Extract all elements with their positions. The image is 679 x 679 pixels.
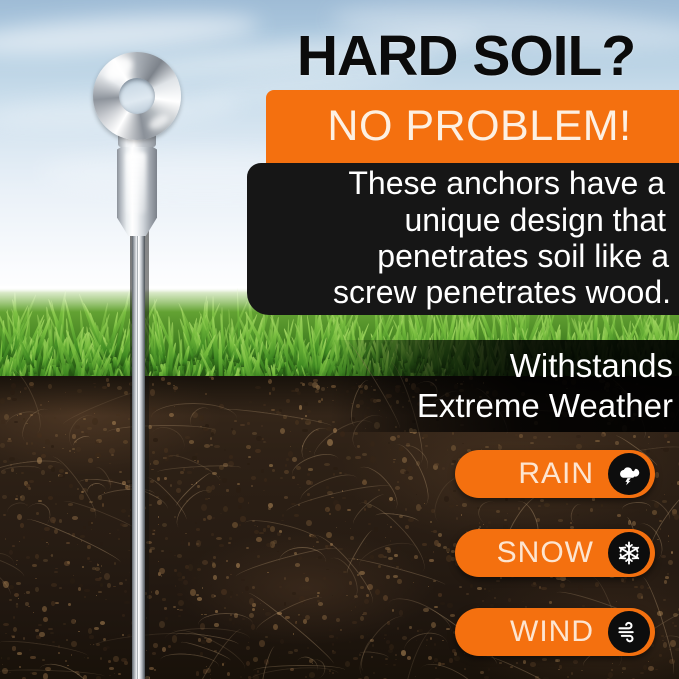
- soil-speck: [397, 435, 400, 438]
- soil-speck: [88, 458, 93, 462]
- soil-speck: [221, 589, 227, 595]
- soil-speck: [548, 436, 551, 438]
- soil-speck: [459, 586, 463, 588]
- soil-speck: [89, 635, 94, 638]
- soil-speck: [329, 635, 334, 638]
- soil-speck: [190, 589, 196, 596]
- soil-speck: [393, 664, 396, 666]
- soil-speck: [118, 538, 121, 541]
- soil-speck: [43, 617, 48, 623]
- soil-speck: [42, 606, 47, 612]
- soil-speck: [322, 615, 327, 620]
- description-line: These anchors have a: [348, 165, 671, 201]
- soil-speck: [101, 565, 102, 566]
- soil-speck: [290, 446, 291, 447]
- soil-speck: [592, 498, 596, 500]
- soil-speck: [256, 436, 262, 442]
- soil-speck: [286, 458, 289, 461]
- soil-speck: [65, 392, 66, 393]
- soil-speck: [43, 559, 48, 562]
- soil-speck: [14, 593, 19, 597]
- soil-speck: [246, 445, 251, 449]
- soil-speck: [144, 592, 147, 595]
- soil-speck: [295, 621, 297, 624]
- soil-speck: [62, 448, 64, 449]
- soil-speck: [32, 564, 37, 567]
- soil-speck: [138, 591, 141, 593]
- soil-speck: [80, 535, 85, 539]
- soil-speck: [51, 554, 54, 557]
- soil-speck: [386, 575, 390, 579]
- soil-speck: [196, 543, 199, 545]
- soil-speck: [299, 487, 301, 488]
- badge-snow-label: SNOW: [497, 536, 594, 570]
- soil-speck: [360, 616, 364, 621]
- soil-speck: [226, 489, 229, 491]
- soil-speck: [522, 601, 524, 602]
- soil-speck: [479, 526, 481, 528]
- soil-speck: [578, 585, 584, 591]
- soil-speck: [615, 441, 619, 445]
- soil-speck: [77, 389, 82, 394]
- soil-speck: [151, 591, 153, 593]
- soil-speck: [146, 541, 152, 544]
- soil-speck: [89, 561, 91, 562]
- soil-speck: [284, 602, 287, 606]
- soil-root: [485, 653, 552, 679]
- soil-speck: [252, 608, 256, 611]
- soil-speck: [640, 672, 644, 674]
- description-line: penetrates soil like a: [377, 238, 671, 274]
- soil-speck: [54, 417, 57, 419]
- soil-speck: [167, 382, 171, 385]
- soil-speck: [350, 536, 354, 540]
- soil-speck: [280, 477, 282, 479]
- soil-speck: [345, 661, 350, 667]
- soil-speck: [202, 560, 208, 565]
- soil-speck: [100, 657, 102, 660]
- withstands-line: Withstands: [510, 346, 673, 386]
- soil-root: [621, 501, 651, 516]
- soil-speck: [48, 628, 53, 631]
- soil-speck: [174, 555, 176, 556]
- soil-speck: [1, 657, 2, 658]
- soil-speck: [170, 484, 172, 487]
- soil-speck: [573, 660, 578, 665]
- soil-speck: [46, 546, 49, 548]
- soil-speck: [294, 546, 295, 547]
- soil-speck: [483, 524, 485, 525]
- soil-speck: [153, 460, 159, 466]
- soil-speck: [421, 507, 423, 509]
- soil-speck: [451, 445, 457, 451]
- soil-speck: [671, 551, 673, 554]
- soil-speck: [321, 387, 325, 391]
- soil-speck: [129, 572, 130, 573]
- soil-speck: [210, 444, 212, 446]
- soil-speck: [202, 587, 203, 589]
- soil-speck: [84, 596, 86, 598]
- soil-speck: [134, 627, 138, 630]
- soil-speck: [461, 514, 463, 516]
- soil-speck: [477, 606, 479, 607]
- soil-speck: [247, 422, 250, 426]
- soil-speck: [581, 670, 583, 672]
- soil-speck: [48, 543, 49, 544]
- soil-speck: [114, 673, 115, 674]
- soil-speck: [149, 549, 153, 553]
- soil-speck: [519, 434, 523, 438]
- soil-speck: [63, 623, 66, 626]
- soil-speck: [23, 637, 25, 639]
- soil-speck: [450, 614, 455, 617]
- soil-speck: [94, 627, 99, 630]
- soil-speck: [576, 444, 582, 449]
- soil-speck: [355, 456, 361, 460]
- soil-speck: [247, 463, 250, 466]
- soil-speck: [220, 513, 222, 515]
- soil-speck: [229, 455, 233, 459]
- snowflake-icon: [608, 532, 650, 574]
- soil-speck: [158, 516, 160, 518]
- soil-speck: [91, 529, 92, 530]
- soil-speck: [50, 632, 54, 634]
- soil-speck: [162, 598, 167, 601]
- soil-speck: [38, 624, 42, 626]
- description-panel: These anchors have a unique design that …: [247, 163, 679, 315]
- soil-speck: [261, 425, 264, 428]
- soil-speck: [508, 598, 512, 603]
- soil-speck: [413, 582, 414, 583]
- soil-speck: [52, 641, 55, 643]
- soil-speck: [541, 587, 546, 590]
- soil-speck: [124, 661, 128, 666]
- soil-speck: [71, 641, 76, 647]
- soil-speck: [241, 579, 245, 582]
- soil-speck: [133, 544, 136, 546]
- soil-speck: [447, 552, 449, 553]
- soil-speck: [292, 592, 296, 595]
- soil-speck: [530, 662, 536, 668]
- soil-speck: [55, 503, 57, 505]
- soil-speck: [664, 580, 667, 584]
- soil-speck: [668, 560, 673, 565]
- soil-speck: [316, 385, 320, 390]
- soil-speck: [69, 450, 71, 452]
- soil-speck: [109, 533, 112, 534]
- soil-speck: [434, 463, 440, 466]
- soil-speck: [65, 660, 67, 662]
- soil-speck: [88, 628, 93, 634]
- soil-speck: [259, 640, 265, 646]
- soil-speck: [239, 524, 241, 526]
- soil-speck: [462, 443, 464, 444]
- soil-speck: [451, 463, 454, 465]
- soil-speck: [248, 456, 251, 458]
- soil-speck: [177, 480, 183, 485]
- soil-speck: [159, 568, 165, 575]
- soil-speck: [100, 621, 106, 625]
- soil-speck: [136, 648, 142, 652]
- soil-speck: [152, 533, 155, 536]
- soil-speck: [288, 652, 290, 653]
- soil-speck: [608, 672, 613, 678]
- soil-speck: [35, 629, 39, 632]
- soil-speck: [340, 629, 342, 631]
- badge-rain[interactable]: RAIN: [455, 450, 655, 498]
- soil-speck: [240, 676, 242, 678]
- soil-speck: [7, 657, 9, 660]
- soil-speck: [165, 537, 169, 540]
- soil-speck: [175, 585, 176, 587]
- soil-speck: [397, 481, 399, 483]
- soil-speck: [427, 546, 430, 549]
- soil-speck: [19, 666, 21, 668]
- soil-speck: [504, 519, 506, 521]
- soil-speck: [134, 480, 140, 484]
- soil-speck: [558, 519, 563, 522]
- soil-speck: [123, 440, 128, 444]
- soil-speck: [30, 656, 35, 660]
- soil-speck: [173, 385, 175, 386]
- soil-speck: [122, 634, 124, 636]
- soil-speck: [168, 645, 171, 648]
- soil-speck: [255, 449, 261, 453]
- soil-speck: [663, 599, 666, 602]
- withstands-line: Extreme Weather: [417, 386, 673, 426]
- soil-speck: [33, 612, 34, 613]
- soil-speck: [507, 513, 509, 514]
- soil-speck: [602, 578, 604, 579]
- soil-speck: [9, 585, 13, 589]
- soil-speck: [303, 619, 307, 624]
- soil-speck: [422, 543, 426, 546]
- soil-speck: [74, 452, 75, 453]
- soil-speck: [154, 669, 156, 671]
- soil-speck: [12, 636, 15, 638]
- soil-speck: [360, 635, 364, 639]
- soil-speck: [332, 595, 333, 596]
- soil-speck: [447, 603, 453, 608]
- soil-speck: [601, 504, 604, 507]
- soil-speck: [117, 386, 122, 390]
- soil-speck: [238, 505, 242, 509]
- soil-speck: [665, 576, 669, 579]
- soil-speck: [634, 586, 638, 588]
- soil-speck: [70, 578, 76, 585]
- withstands-heading: Withstands Extreme Weather: [330, 340, 673, 432]
- soil-speck: [434, 540, 439, 546]
- soil-speck: [249, 401, 252, 403]
- soil-speck: [16, 564, 18, 566]
- soil-speck: [285, 464, 287, 467]
- soil-speck: [5, 633, 7, 634]
- badge-snow[interactable]: SNOW: [455, 529, 655, 577]
- soil-speck: [124, 560, 125, 561]
- soil-speck: [300, 382, 303, 384]
- soil-speck: [67, 561, 70, 564]
- soil-speck: [32, 452, 36, 455]
- soil-speck: [28, 487, 31, 490]
- soil-speck: [351, 610, 352, 611]
- badge-wind[interactable]: WIND: [455, 608, 655, 656]
- soil-speck: [268, 507, 271, 510]
- soil-speck: [219, 484, 221, 486]
- soil-speck: [16, 560, 18, 561]
- soil-speck: [290, 431, 291, 432]
- soil-speck: [326, 532, 332, 539]
- soil-speck: [211, 533, 215, 537]
- soil-speck: [248, 502, 249, 504]
- soil-speck: [216, 537, 222, 540]
- soil-speck: [456, 517, 459, 520]
- soil-speck: [252, 432, 257, 435]
- soil-speck: [347, 509, 351, 512]
- soil-speck: [18, 598, 19, 599]
- soil-speck: [55, 568, 58, 570]
- soil-speck: [35, 578, 36, 579]
- soil-speck: [24, 593, 25, 594]
- soil-speck: [533, 436, 537, 439]
- soil-speck: [27, 452, 30, 454]
- soil-speck: [464, 668, 466, 670]
- soil-speck: [307, 410, 312, 413]
- soil-speck: [2, 664, 3, 665]
- soil-speck: [454, 652, 458, 656]
- soil-speck: [470, 584, 473, 588]
- soil-speck: [332, 651, 336, 654]
- soil-speck: [375, 589, 381, 596]
- soil-speck: [13, 616, 16, 619]
- soil-speck: [500, 577, 502, 579]
- soil-speck: [370, 456, 376, 463]
- soil-speck: [73, 575, 74, 576]
- no-problem-text: NO PROBLEM!: [327, 102, 631, 151]
- soil-speck: [655, 669, 658, 670]
- soil-speck: [238, 497, 244, 502]
- soil-speck: [78, 587, 81, 591]
- soil-speck: [428, 586, 429, 587]
- soil-speck: [313, 379, 318, 382]
- soil-speck: [5, 538, 7, 540]
- soil-speck: [280, 428, 285, 434]
- soil-speck: [141, 451, 143, 453]
- soil-speck: [225, 504, 227, 505]
- soil-speck: [433, 530, 437, 533]
- soil-speck: [97, 457, 99, 458]
- soil-speck: [178, 600, 184, 606]
- soil-speck: [71, 619, 76, 624]
- soil-speck: [12, 545, 16, 547]
- soil-speck: [617, 514, 621, 517]
- soil-speck: [100, 583, 103, 586]
- soil-speck: [107, 583, 111, 588]
- soil-speck: [277, 551, 279, 553]
- badge-wind-label: WIND: [510, 615, 594, 649]
- soil-speck: [362, 453, 367, 456]
- soil-speck: [35, 587, 39, 592]
- soil-speck: [253, 657, 259, 662]
- soil-speck: [162, 523, 167, 527]
- grass-blade: [53, 349, 56, 376]
- soil-speck: [109, 463, 111, 464]
- soil-speck: [571, 672, 573, 675]
- soil-speck: [193, 577, 196, 579]
- soil-speck: [119, 471, 123, 474]
- soil-speck: [352, 621, 356, 624]
- soil-speck: [292, 457, 297, 463]
- soil-speck: [496, 580, 500, 582]
- soil-speck: [87, 557, 90, 560]
- soil-speck: [165, 617, 168, 620]
- soil-speck: [227, 672, 230, 676]
- soil-speck: [201, 614, 203, 616]
- soil-speck: [23, 536, 26, 539]
- soil-speck: [246, 646, 250, 651]
- soil-speck: [249, 613, 254, 618]
- soil-speck: [200, 541, 202, 543]
- soil-speck: [303, 629, 307, 633]
- soil-speck: [132, 441, 136, 446]
- soil-speck: [668, 541, 669, 542]
- soil-speck: [485, 446, 489, 449]
- soil-speck: [232, 430, 236, 435]
- soil-speck: [9, 550, 13, 555]
- soil-speck: [158, 524, 159, 525]
- soil-speck: [158, 561, 159, 562]
- soil-speck: [51, 445, 54, 448]
- soil-speck: [288, 451, 294, 457]
- soil-speck: [488, 668, 491, 671]
- soil-speck: [558, 669, 560, 670]
- soil-root: [569, 502, 588, 525]
- soil-speck: [150, 463, 151, 464]
- soil-speck: [79, 584, 83, 587]
- soil-speck: [390, 449, 391, 450]
- soil-speck: [212, 517, 215, 519]
- soil-speck: [232, 522, 238, 528]
- soil-speck: [196, 528, 200, 531]
- soil-speck: [350, 528, 351, 529]
- soil-speck: [336, 527, 337, 528]
- soil-speck: [108, 660, 111, 663]
- soil-speck: [128, 515, 130, 517]
- soil-speck: [266, 442, 267, 443]
- soil-speck: [125, 579, 127, 581]
- soil-speck: [567, 676, 569, 678]
- soil-speck: [128, 550, 131, 552]
- soil-speck: [182, 576, 185, 579]
- soil-speck: [440, 602, 445, 605]
- soil-speck: [128, 418, 130, 419]
- soil-speck: [284, 496, 288, 499]
- soil-speck: [146, 617, 147, 618]
- soil-speck: [49, 481, 51, 482]
- soil-speck: [240, 424, 245, 427]
- soil-speck: [72, 516, 78, 520]
- soil-speck: [66, 639, 68, 641]
- soil-speck: [484, 676, 489, 679]
- soil-speck: [157, 477, 160, 481]
- soil-speck: [269, 392, 271, 394]
- soil-speck: [305, 577, 309, 582]
- soil-speck: [430, 521, 432, 523]
- soil-speck: [109, 667, 114, 670]
- soil-speck: [622, 667, 626, 669]
- soil-speck: [405, 508, 408, 511]
- soil-speck: [140, 563, 142, 565]
- soil-speck: [118, 673, 121, 675]
